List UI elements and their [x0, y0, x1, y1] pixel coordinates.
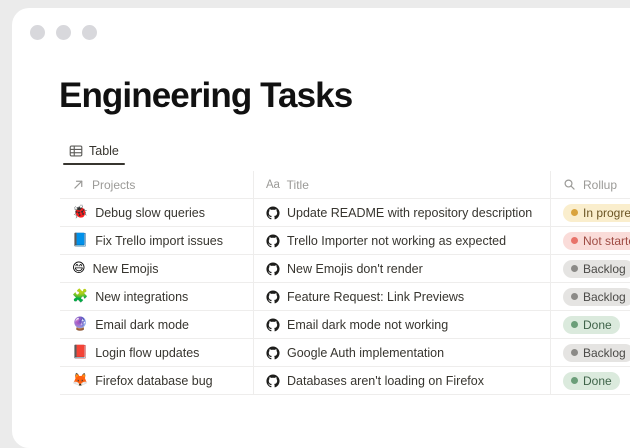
- crystal-ball-emoji: 🔮: [72, 318, 88, 331]
- cell-title: Email dark mode not working: [253, 311, 550, 338]
- table-row[interactable]: 🧩New integrationsFeature Request: Link P…: [60, 283, 630, 311]
- search-icon: [563, 178, 576, 191]
- title-link[interactable]: Email dark mode not working: [287, 318, 448, 332]
- status-badge[interactable]: Done: [563, 316, 620, 334]
- status-dot: [571, 265, 578, 272]
- table-row[interactable]: 😄New EmojisNew Emojis don't renderBacklo…: [60, 255, 630, 283]
- cell-project: 🦊Firefox database bug: [60, 367, 253, 394]
- closed-book-emoji: 📕: [72, 346, 88, 359]
- lady-beetle-emoji: 🐞: [72, 206, 88, 219]
- cell-project: 🧩New integrations: [60, 283, 253, 310]
- project-link[interactable]: New integrations: [95, 290, 188, 304]
- column-header-label: Rollup: [583, 178, 617, 192]
- cell-title: New Emojis don't render: [253, 255, 550, 282]
- cell-rollup: Backlog: [550, 283, 630, 310]
- tasks-table: Projects Aa Title Rollup 🐞Debug slow que…: [60, 171, 630, 395]
- status-label: Backlog: [583, 262, 626, 276]
- cell-rollup: In progress: [550, 199, 630, 226]
- status-badge[interactable]: Done: [563, 372, 620, 390]
- cell-project: 🐞Debug slow queries: [60, 199, 253, 226]
- column-header-rollup[interactable]: Rollup: [550, 171, 630, 198]
- table-row[interactable]: 🔮Email dark modeEmail dark mode not work…: [60, 311, 630, 339]
- window-minimize-dot[interactable]: [56, 25, 71, 40]
- column-header-label: Projects: [92, 178, 135, 192]
- window-close-dot[interactable]: [30, 25, 45, 40]
- title-link[interactable]: Update README with repository descriptio…: [287, 206, 532, 220]
- table-row[interactable]: 📕Login flow updatesGoogle Auth implement…: [60, 339, 630, 367]
- cell-project: 🔮Email dark mode: [60, 311, 253, 338]
- status-label: Done: [583, 318, 612, 332]
- title-link[interactable]: New Emojis don't render: [287, 262, 423, 276]
- status-dot: [571, 321, 578, 328]
- project-link[interactable]: New Emojis: [93, 262, 159, 276]
- cell-rollup: Not started: [550, 227, 630, 254]
- github-icon: [266, 346, 280, 360]
- status-label: In progress: [583, 206, 630, 220]
- blue-book-emoji: 📘: [72, 234, 88, 247]
- cell-title: Update README with repository descriptio…: [253, 199, 550, 226]
- status-dot: [571, 377, 578, 384]
- column-header-projects[interactable]: Projects: [60, 171, 253, 198]
- title-link[interactable]: Google Auth implementation: [287, 346, 444, 360]
- cell-project: 📘Fix Trello import issues: [60, 227, 253, 254]
- app-window-card: Engineering Tasks Table: [12, 8, 630, 448]
- github-icon: [266, 318, 280, 332]
- status-label: Backlog: [583, 346, 626, 360]
- status-badge[interactable]: Not started: [563, 232, 630, 250]
- title-link[interactable]: Databases aren't loading on Firefox: [287, 374, 484, 388]
- table-icon: [69, 144, 83, 158]
- page-title: Engineering Tasks: [59, 74, 352, 118]
- window-traffic-lights: [30, 25, 97, 40]
- fox-emoji: 🦊: [72, 374, 88, 387]
- project-link[interactable]: Debug slow queries: [95, 206, 205, 220]
- status-dot: [571, 293, 578, 300]
- status-badge[interactable]: Backlog: [563, 260, 630, 278]
- column-header-label: Title: [287, 178, 309, 192]
- status-dot: [571, 209, 578, 216]
- status-badge[interactable]: Backlog: [563, 344, 630, 362]
- cell-title: Databases aren't loading on Firefox: [253, 367, 550, 394]
- cell-rollup: Backlog: [550, 339, 630, 366]
- status-label: Not started: [583, 234, 630, 248]
- github-icon: [266, 206, 280, 220]
- status-dot: [571, 349, 578, 356]
- grinning-face-emoji: 😄: [72, 262, 86, 275]
- puzzle-piece-emoji: 🧩: [72, 290, 88, 303]
- cell-rollup: Done: [550, 367, 630, 394]
- text-aa-icon: Aa: [266, 179, 280, 191]
- cell-title: Google Auth implementation: [253, 339, 550, 366]
- status-dot: [571, 237, 578, 244]
- cell-title: Feature Request: Link Previews: [253, 283, 550, 310]
- github-icon: [266, 234, 280, 248]
- table-header-row: Projects Aa Title Rollup: [60, 171, 630, 199]
- status-label: Done: [583, 374, 612, 388]
- title-link[interactable]: Trello Importer not working as expected: [287, 234, 506, 248]
- status-badge[interactable]: Backlog: [563, 288, 630, 306]
- title-link[interactable]: Feature Request: Link Previews: [287, 290, 464, 304]
- cell-rollup: Backlog: [550, 255, 630, 282]
- cell-title: Trello Importer not working as expected: [253, 227, 550, 254]
- cell-project: 📕Login flow updates: [60, 339, 253, 366]
- tab-active-indicator: [63, 163, 125, 165]
- status-label: Backlog: [583, 290, 626, 304]
- github-icon: [266, 374, 280, 388]
- project-link[interactable]: Firefox database bug: [95, 374, 212, 388]
- table-row[interactable]: 📘Fix Trello import issuesTrello Importer…: [60, 227, 630, 255]
- cell-project: 😄New Emojis: [60, 255, 253, 282]
- github-icon: [266, 262, 280, 276]
- table-body: 🐞Debug slow queriesUpdate README with re…: [60, 199, 630, 395]
- relation-arrow-icon: [72, 178, 85, 191]
- window-maximize-dot[interactable]: [82, 25, 97, 40]
- tab-table[interactable]: Table: [60, 141, 128, 165]
- github-icon: [266, 290, 280, 304]
- table-row[interactable]: 🦊Firefox database bugDatabases aren't lo…: [60, 367, 630, 395]
- view-tab-bar: Table: [60, 141, 128, 165]
- project-link[interactable]: Fix Trello import issues: [95, 234, 223, 248]
- project-link[interactable]: Login flow updates: [95, 346, 199, 360]
- table-row[interactable]: 🐞Debug slow queriesUpdate README with re…: [60, 199, 630, 227]
- cell-rollup: Done: [550, 311, 630, 338]
- status-badge[interactable]: In progress: [563, 204, 630, 222]
- tab-label: Table: [89, 144, 119, 158]
- column-header-title[interactable]: Aa Title: [253, 171, 550, 198]
- project-link[interactable]: Email dark mode: [95, 318, 189, 332]
